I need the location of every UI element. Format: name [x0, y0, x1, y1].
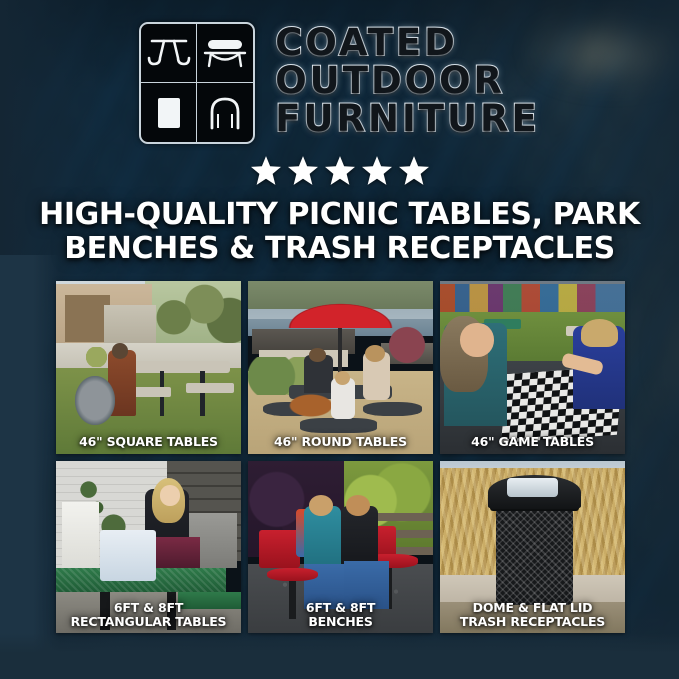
product-caption: DOME & FLAT LID TRASH RECEPTACLES [444, 601, 621, 629]
product-tile-square-tables[interactable]: 46" SQUARE TABLES [56, 281, 241, 454]
logo-icon-grid [139, 22, 255, 144]
headline-line-1: HIGH-QUALITY PICNIC TABLES, PARK [39, 197, 640, 232]
star-icon [288, 156, 318, 185]
star-rating [0, 156, 679, 185]
product-image-game-tables [440, 281, 625, 454]
product-caption: 6FT & 8FT RECTANGULAR TABLES [60, 601, 237, 629]
logo-wordmark: COATED OUTDOOR FURNITURE [275, 22, 540, 137]
trash-can-icon [141, 83, 197, 142]
product-caption: 46" SQUARE TABLES [60, 435, 237, 449]
product-grid: 46" SQUARE TABLES [56, 281, 625, 633]
product-caption-line-2: BENCHES [308, 614, 372, 629]
product-caption-line-2: RECTANGULAR TABLES [71, 614, 227, 629]
product-tile-game-tables[interactable]: 46" GAME TABLES [440, 281, 625, 454]
logo-line-3: FURNITURE [275, 100, 540, 137]
product-tile-benches[interactable]: 6FT & 8FT BENCHES [248, 461, 433, 633]
arch-icon [197, 83, 253, 142]
product-caption: 6FT & 8FT BENCHES [252, 601, 429, 629]
product-image-square-tables [56, 281, 241, 454]
product-caption-line-1: 6FT & 8FT [114, 600, 183, 615]
promo-banner: COATED OUTDOOR FURNITURE HIGH-QUALITY PI… [0, 0, 679, 679]
star-icon [362, 156, 392, 185]
headline: HIGH-QUALITY PICNIC TABLES, PARK BENCHES… [30, 198, 649, 266]
product-tile-round-tables[interactable]: 46" ROUND TABLES [248, 281, 433, 454]
star-icon [251, 156, 281, 185]
product-tile-rectangular-tables[interactable]: 6FT & 8FT RECTANGULAR TABLES [56, 461, 241, 633]
bench-icon [197, 24, 253, 83]
product-caption-line-2: TRASH RECEPTACLES [460, 614, 605, 629]
logo-line-1: COATED [275, 24, 540, 61]
star-icon [325, 156, 355, 185]
product-tile-trash-receptacles[interactable]: DOME & FLAT LID TRASH RECEPTACLES [440, 461, 625, 633]
product-caption-line-1: DOME & FLAT LID [473, 600, 593, 615]
product-caption: 46" ROUND TABLES [252, 435, 429, 449]
banner-content: COATED OUTDOOR FURNITURE HIGH-QUALITY PI… [0, 0, 679, 679]
product-caption: 46" GAME TABLES [444, 435, 621, 449]
headline-line-2: BENCHES & TRASH RECEPTACLES [30, 232, 649, 266]
product-caption-line-1: 6FT & 8FT [306, 600, 375, 615]
star-icon [399, 156, 429, 185]
brand-logo: COATED OUTDOOR FURNITURE [0, 22, 679, 144]
product-image-round-tables [248, 281, 433, 454]
logo-line-2: OUTDOOR [275, 62, 540, 99]
picnic-table-icon [141, 24, 197, 83]
